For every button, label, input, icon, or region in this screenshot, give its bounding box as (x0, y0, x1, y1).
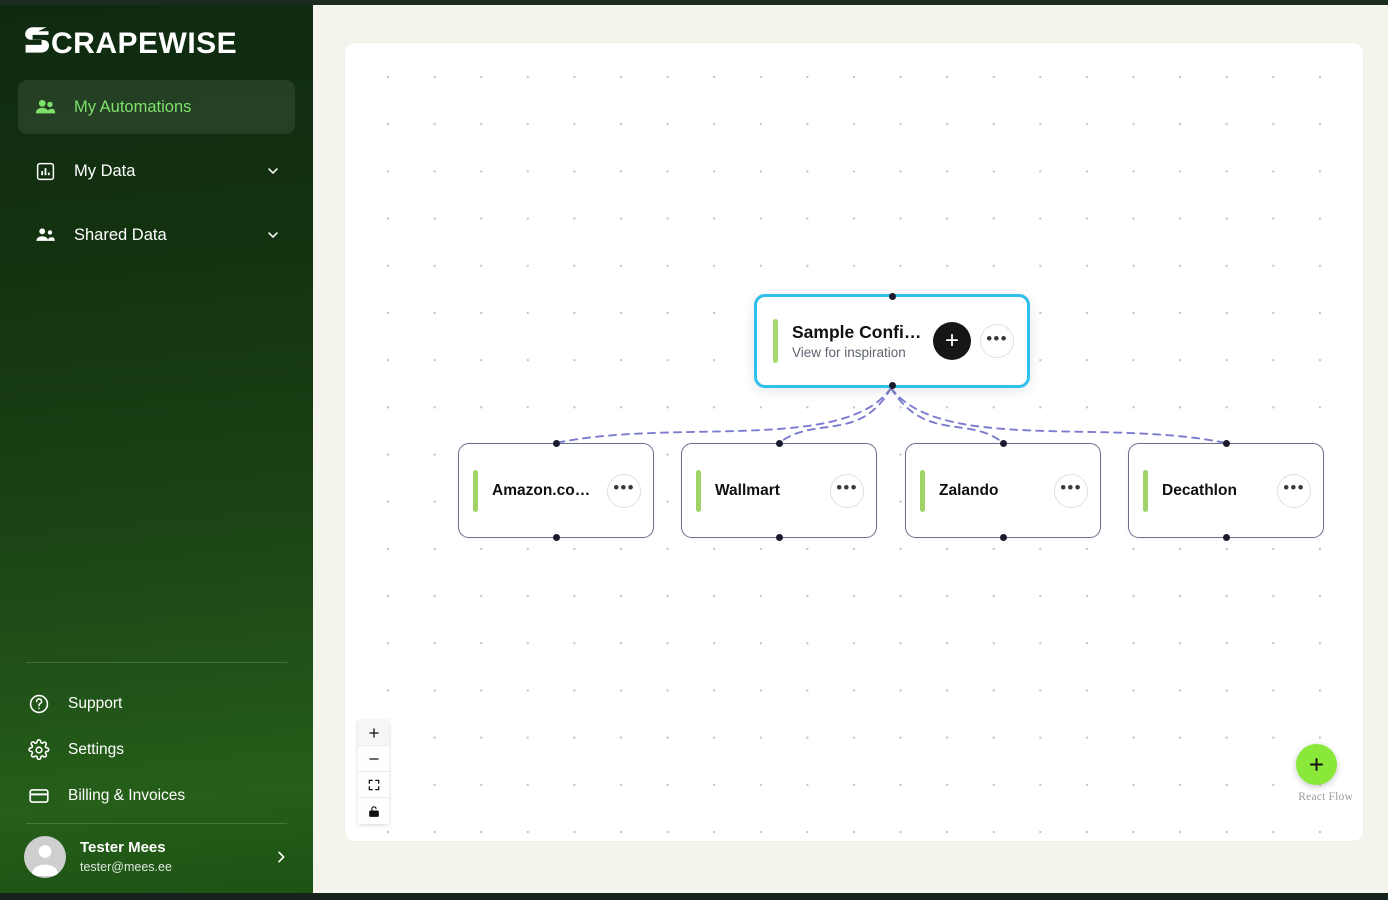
create-automation-fab[interactable] (1296, 744, 1337, 785)
sidebar-item-label: Settings (68, 741, 287, 759)
edge-root-to-zalando (891, 388, 1003, 443)
primary-nav: My Automations My Data (0, 66, 313, 272)
add-node-button[interactable]: + (933, 322, 971, 360)
sidebar-item-label: Shared Data (74, 226, 265, 245)
app-root: CRAPEWISE My Automations (0, 0, 1388, 900)
sidebar-item-my-automations[interactable]: My Automations (18, 80, 295, 134)
node-text: Sample Configur... View for inspiration (792, 322, 927, 361)
sidebar-item-shared-data[interactable]: Shared Data (18, 208, 295, 262)
node-handle-top[interactable] (889, 293, 896, 300)
sidebar-item-billing-invoices[interactable]: Billing & Invoices (18, 773, 295, 819)
chevron-right-icon[interactable] (273, 849, 289, 865)
node-subtitle: View for inspiration (792, 345, 927, 360)
sidebar-item-settings[interactable]: Settings (18, 727, 295, 773)
node-text: Wallmart (715, 481, 826, 500)
zoom-out-button[interactable] (358, 746, 389, 772)
node-text: Decathlon (1162, 481, 1273, 500)
edge-layer (345, 43, 1363, 841)
node-title: Wallmart (715, 481, 826, 500)
sidebar-item-label: My Data (74, 162, 265, 181)
credit-card-icon (26, 785, 52, 807)
chevron-down-icon[interactable] (265, 227, 281, 243)
node-handle-top[interactable] (776, 440, 783, 447)
logo-wordmark: CRAPEWISE (51, 27, 237, 61)
gear-icon (26, 739, 52, 761)
fit-view-icon (367, 778, 381, 792)
people-icon (32, 224, 58, 246)
react-flow-attribution[interactable]: React Flow (1298, 791, 1353, 803)
node-zalando[interactable]: Zalando ••• (905, 443, 1101, 538)
logo-s-mark (24, 25, 50, 63)
node-handle-bottom[interactable] (889, 382, 896, 389)
secondary-nav: Support Settings Billi (0, 663, 313, 823)
sidebar-item-label: Billing & Invoices (68, 787, 287, 805)
plus-icon (1307, 755, 1326, 774)
user-name: Tester Mees (80, 838, 273, 858)
node-text: Zalando (939, 481, 1050, 500)
node-accent-bar (773, 319, 778, 363)
avatar (24, 836, 66, 878)
person-avatar-icon (24, 836, 66, 878)
edge-root-to-wallmart (779, 388, 891, 443)
node-menu-button[interactable]: ••• (1054, 474, 1088, 508)
sidebar: CRAPEWISE My Automations (0, 4, 313, 896)
edge-root-to-decathlon (891, 388, 1226, 443)
node-handle-top[interactable] (1223, 440, 1230, 447)
node-text: Amazon.com J... (492, 481, 603, 500)
app-logo[interactable]: CRAPEWISE (0, 4, 313, 66)
node-sample-configuration[interactable]: Sample Configur... View for inspiration … (754, 294, 1030, 388)
window-bottom-strip (0, 893, 1388, 900)
toggle-interactivity-lock-button[interactable] (358, 798, 389, 824)
logo-s-icon (24, 25, 50, 55)
node-menu-button[interactable]: ••• (980, 324, 1014, 358)
chevron-down-icon[interactable] (265, 163, 281, 179)
sidebar-item-label: Support (68, 695, 287, 713)
node-title: Amazon.com J... (492, 481, 603, 500)
fit-view-button[interactable] (358, 772, 389, 798)
node-handle-bottom[interactable] (553, 534, 560, 541)
node-menu-button[interactable]: ••• (607, 474, 641, 508)
node-handle-bottom[interactable] (776, 534, 783, 541)
minus-icon (367, 752, 381, 766)
sidebar-item-support[interactable]: Support (18, 681, 295, 727)
zoom-in-button[interactable] (358, 720, 389, 746)
node-wallmart[interactable]: Wallmart ••• (681, 443, 877, 538)
node-title: Decathlon (1162, 481, 1273, 500)
node-title: Sample Configur... (792, 322, 927, 344)
node-menu-button[interactable]: ••• (1277, 474, 1311, 508)
node-accent-bar (473, 470, 478, 512)
plus-icon (367, 726, 381, 740)
node-handle-top[interactable] (553, 440, 560, 447)
window-top-strip (0, 0, 1388, 5)
node-accent-bar (696, 470, 701, 512)
people-icon (32, 96, 58, 118)
help-circle-icon (26, 693, 52, 715)
lock-icon (367, 804, 381, 819)
node-title: Zalando (939, 481, 1050, 500)
user-meta: Tester Mees tester@mees.ee (80, 838, 273, 875)
user-profile-row[interactable]: Tester Mees tester@mees.ee (0, 824, 313, 896)
flow-layer: Sample Configur... View for inspiration … (345, 43, 1363, 841)
node-menu-button[interactable]: ••• (830, 474, 864, 508)
flow-canvas[interactable]: Sample Configur... View for inspiration … (345, 43, 1363, 841)
chart-box-icon (32, 160, 58, 182)
node-amazon[interactable]: Amazon.com J... ••• (458, 443, 654, 538)
node-handle-bottom[interactable] (1223, 534, 1230, 541)
node-accent-bar (1143, 470, 1148, 512)
user-email: tester@mees.ee (80, 859, 273, 876)
sidebar-item-label: My Automations (74, 98, 281, 117)
node-accent-bar (920, 470, 925, 512)
sidebar-item-my-data[interactable]: My Data (18, 144, 295, 198)
edge-root-to-amazon (556, 388, 891, 443)
node-decathlon[interactable]: Decathlon ••• (1128, 443, 1324, 538)
flow-controls (358, 720, 389, 824)
node-handle-bottom[interactable] (1000, 534, 1007, 541)
node-handle-top[interactable] (1000, 440, 1007, 447)
sidebar-spacer (0, 272, 313, 662)
